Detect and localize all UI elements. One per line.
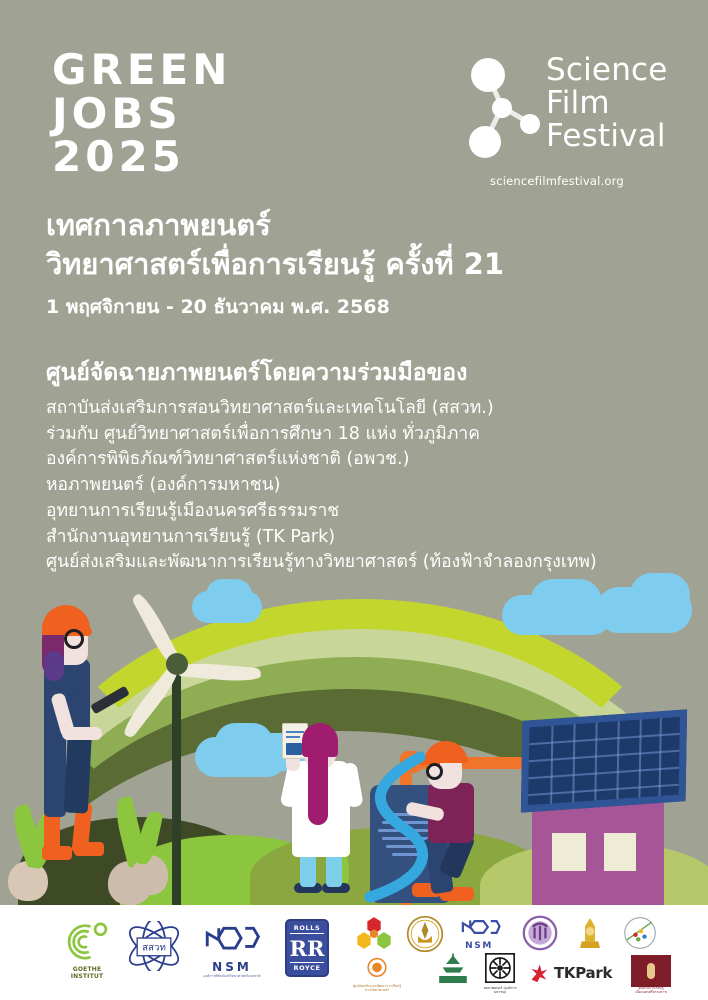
clipboard-lines (286, 736, 300, 738)
organizers-list: สถาบันส่งเสริมการสอนวิทยาศาสตร์และเทคโนโ… (46, 396, 597, 576)
sponsor-gold-ornament[interactable] (570, 915, 610, 955)
title-line-1: GREEN (52, 48, 231, 92)
sponsor-sublabel: ศูนย์ส่งเสริมและพัฒนาการเรียนรู้ทางวิทยา… (348, 985, 406, 992)
sponsor-sublabel: หอภาพยนตร์ (องค์การมหาชน) (478, 987, 522, 994)
festival-word-1: Science (546, 54, 668, 87)
list-item: สถาบันส่งเสริมการสอนวิทยาศาสตร์และเทคโนโ… (46, 396, 597, 422)
festival-word-3: Festival (546, 120, 668, 153)
list-item: สำนักงานอุทยานการเรียนรู้ (TK Park) (46, 525, 597, 551)
film-archive-logo (485, 953, 515, 983)
sponsor-rolls-royce[interactable]: ROLLS RR ROYCE (282, 919, 332, 977)
poster-root: GREEN JOBS 2025 Science Film Festival sc… (0, 0, 708, 1000)
planetarium-circle-logo (621, 915, 659, 951)
sponsor-label: NSM (456, 941, 502, 951)
solar-grid (528, 717, 680, 805)
sponsor-ipst[interactable]: สสวท (118, 921, 190, 975)
festival-logo-wordmark: Science Film Festival (546, 54, 668, 153)
green-pavilion-logo (434, 953, 472, 987)
sponsor-tk-park[interactable]: TKPark (528, 963, 624, 983)
tk-park-mark-icon (528, 963, 550, 983)
cloud-icon (530, 579, 602, 625)
engineer-boot (74, 842, 104, 856)
thai-headline: เทศกาลภาพยนตร์ วิทยาศาสตร์เพื่อการเรียนร… (46, 206, 504, 284)
house-window (552, 833, 586, 871)
illustration-scene (0, 565, 708, 905)
festival-url[interactable]: sciencefilmfestival.org (490, 174, 624, 188)
turbine-hub (166, 653, 188, 675)
sponsor-purple-emblem[interactable] (520, 915, 560, 955)
sponsor-orange-dot[interactable]: ศูนย์ส่งเสริมและพัฒนาการเรียนรู้ทางวิทยา… (348, 957, 406, 992)
page-title: GREEN JOBS 2025 (52, 48, 231, 179)
house-window (604, 833, 636, 871)
headline-line-1: เทศกาลภาพยนตร์ (46, 206, 504, 245)
sponsor-maroon-square[interactable]: อุทยานการเรียนรู้เมืองนครศรีธรรมราช (626, 955, 676, 994)
gold-ornament-emblem-logo (575, 915, 605, 951)
sponsor-nsm[interactable]: NSM องค์การพิพิธภัณฑ์วิทยาศาสตร์แห่งชาติ (192, 921, 272, 979)
sponsor-hexagon-cluster[interactable] (352, 915, 396, 955)
sponsor-label: GOETHEINSTITUT (52, 967, 122, 981)
cloud-icon (630, 573, 690, 617)
cloud-icon (206, 579, 252, 611)
title-line-3: 2025 (52, 135, 231, 179)
sponsor-film-archive[interactable]: หอภาพยนตร์ (องค์การมหาชน) (478, 953, 522, 994)
solar-panel (521, 709, 687, 812)
rolls-royce-logo: ROLLS RR ROYCE (285, 919, 329, 977)
orange-dot-logo (363, 957, 391, 981)
sponsor-label: TKPark (554, 964, 612, 982)
rr-monogram: RR (290, 938, 325, 959)
festival-word-2: Film (546, 87, 668, 120)
festival-dates: 1 พฤศจิกายน - 20 ธันวาคม พ.ศ. 2568 (46, 292, 390, 322)
goethe-institut-logo (60, 919, 114, 963)
sponsor-label: NSM (192, 961, 272, 975)
nsm-small-logo (457, 917, 501, 937)
sponsor-royal-emblem[interactable] (404, 915, 446, 957)
nsm-logo (199, 921, 265, 957)
sponsor-nsm-small[interactable]: NSM (456, 917, 502, 951)
organizers-heading: ศูนย์จัดฉายภาพยนตร์โดยความร่วมมือของ (46, 355, 467, 391)
purple-circle-emblem-logo (522, 915, 558, 951)
science-film-festival-logo: Science Film Festival sciencefilmfestiva… (464, 48, 676, 196)
list-item: องค์การพิพิธภัณฑ์วิทยาศาสตร์แห่งชาติ (อพ… (46, 447, 597, 473)
clipboard-lines (286, 731, 304, 733)
title-line-2: JOBS (52, 92, 231, 136)
goggles-icon (64, 629, 84, 649)
royal-gold-emblem-logo (406, 915, 444, 953)
rr-top-label: ROLLS (290, 924, 324, 934)
molecule-icon (464, 52, 540, 162)
headline-line-2: วิทยาศาสตร์เพื่อการเรียนรู้ ครั้งที่ 21 (46, 245, 504, 284)
sponsor-bar: GOETHEINSTITUT สสวท (0, 905, 708, 1000)
maroon-square-logo (631, 955, 671, 987)
sponsor-green-pavilion[interactable] (424, 953, 482, 991)
engineer-arm (62, 727, 102, 740)
list-item: ร่วมกับ ศูนย์วิทยาศาสตร์เพื่อการศึกษา 18… (46, 422, 597, 448)
cable-icon (120, 745, 540, 915)
svg-text:สสวท: สสวท (142, 942, 166, 953)
list-item: อุทยานการเรียนรู้เมืองนครศรีธรรมราช (46, 499, 597, 525)
sponsor-sublabel: องค์การพิพิธภัณฑ์วิทยาศาสตร์แห่งชาติ (192, 975, 272, 979)
list-item: หอภาพยนตร์ (องค์การมหาชน) (46, 473, 597, 499)
engineer-hair (44, 651, 64, 681)
ipst-sswt-logo: สสวท (123, 921, 185, 971)
sponsor-sublabel: อุทยานการเรียนรู้เมืองนครศรีธรรมราช (626, 987, 676, 994)
hexagon-cluster-logo (354, 915, 394, 951)
rr-bottom-label: ROYCE (290, 962, 324, 972)
engineer-boot (42, 846, 72, 860)
sponsor-planetarium[interactable] (618, 915, 662, 955)
sponsor-goethe-institut[interactable]: GOETHEINSTITUT (52, 919, 122, 981)
